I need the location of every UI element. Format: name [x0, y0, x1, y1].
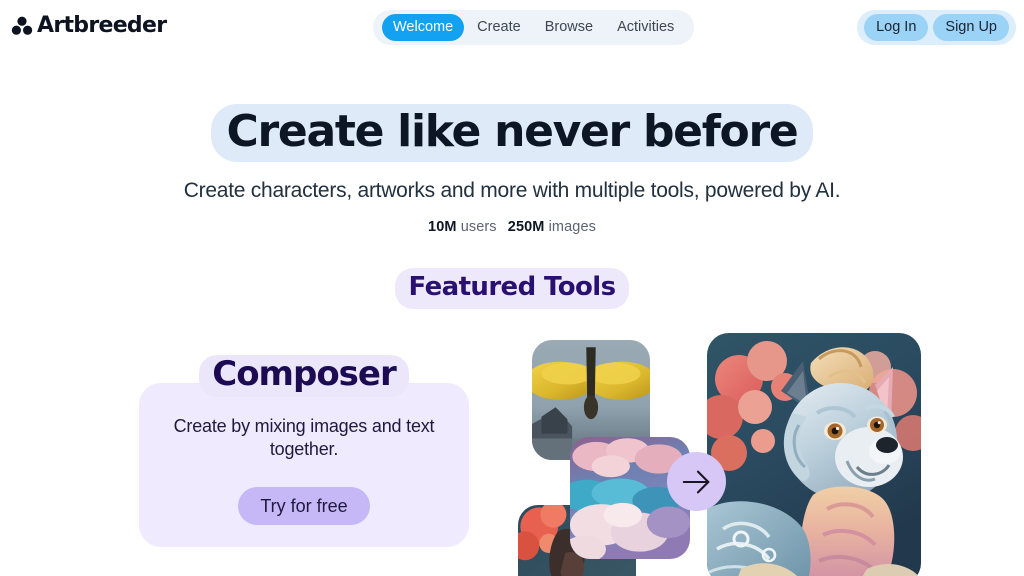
nav-item-activities[interactable]: Activities — [606, 14, 685, 41]
nav-item-create[interactable]: Create — [466, 14, 532, 41]
trefoil-molecule-icon — [10, 14, 34, 38]
composer-preview-collage — [500, 325, 940, 576]
auth-actions: Log In Sign Up — [857, 10, 1016, 45]
brand-name: Artbreeder — [37, 15, 166, 37]
try-for-free-button[interactable]: Try for free — [238, 487, 369, 526]
composer-tool-card: Composer Create by mixing images and tex… — [139, 355, 469, 547]
site-header: Artbreeder Welcome Create Browse Activit… — [0, 0, 1024, 54]
page-title: Create like never before — [211, 104, 814, 162]
featured-tools-heading: Featured Tools — [395, 268, 630, 309]
composer-title-text: Composer — [199, 355, 409, 397]
artbreeder-landing-page: Artbreeder Welcome Create Browse Activit… — [0, 0, 1024, 576]
hero-section: Create like never before Create characte… — [0, 104, 1024, 235]
nav-item-welcome[interactable]: Welcome — [382, 14, 464, 41]
arrow-right-icon — [667, 452, 726, 511]
composer-title: Composer — [139, 355, 469, 397]
stat-users-label: users — [461, 219, 497, 235]
stat-users-value: 10M — [428, 219, 457, 235]
featured-tools-section: Featured Tools — [0, 268, 1024, 309]
log-in-button[interactable]: Log In — [864, 14, 928, 41]
stat-images-value: 250M — [508, 219, 545, 235]
composer-card-body: Create by mixing images and text togethe… — [139, 383, 469, 548]
brand-logo[interactable]: Artbreeder — [10, 10, 166, 42]
stat-images-label: images — [549, 219, 596, 235]
composed-creature-result[interactable] — [707, 333, 921, 576]
hero-subtitle: Create characters, artworks and more wit… — [0, 178, 1024, 204]
main-nav: Welcome Create Browse Activities — [373, 10, 694, 45]
sign-up-button[interactable]: Sign Up — [933, 14, 1009, 41]
nav-item-browse[interactable]: Browse — [534, 14, 604, 41]
hero-stats: 10M users 250M images — [0, 219, 1024, 235]
composer-description: Create by mixing images and text togethe… — [161, 415, 447, 461]
